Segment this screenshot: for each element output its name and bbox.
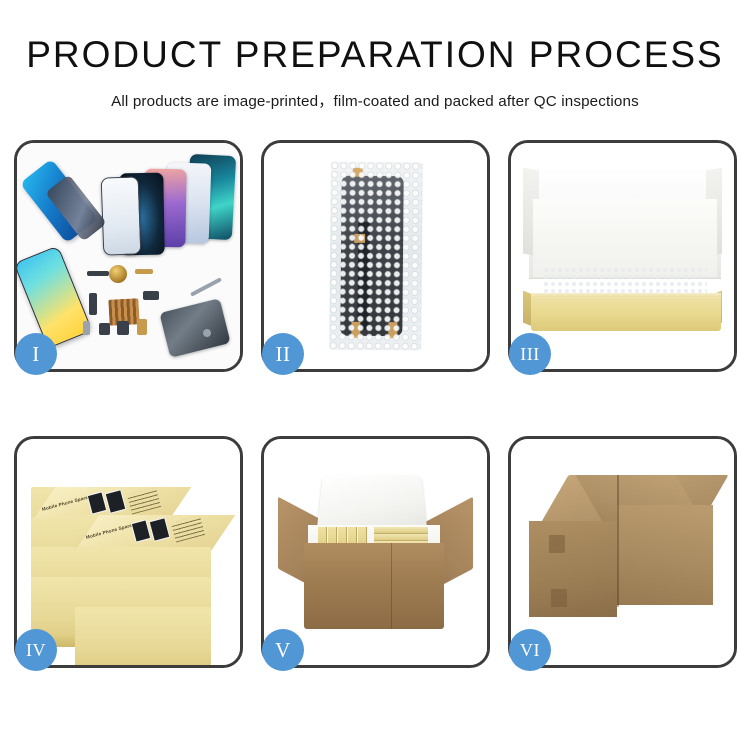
box-stack: Mobile Phone Spare Parts Mobile Phone Sp… [31,471,231,651]
carton-tape-lower [551,589,567,607]
process-step-panel-1[interactable]: I [14,140,243,372]
bubble-wrap-package [329,162,423,351]
part-module-1 [117,321,129,335]
part-flex-1 [89,293,97,315]
process-step-panel-6[interactable]: VI [508,436,737,668]
bubble-texture [329,162,423,351]
step-badge-2: II [262,333,304,375]
box-front-panel [531,297,721,331]
step-1-image [17,143,240,369]
page-header: PRODUCT PREPARATION PROCESS All products… [0,0,750,111]
step-badge-6: VI [509,629,551,671]
process-step-grid: I II [14,140,736,668]
stacked-box-front-4 [75,607,211,665]
step-5-image [264,439,487,665]
part-flex-2 [143,291,159,300]
speaker-component [109,265,127,283]
yellow-box-h-1 [374,527,428,534]
step-2-image [264,143,487,369]
carton-vertical-seam [617,475,619,607]
screen-protector-glass [101,176,142,255]
step-3-image [511,143,734,369]
foam-lid [317,475,428,530]
process-step-panel-2[interactable]: II [261,140,490,372]
foam-sheet [533,199,717,277]
carton-body [304,543,444,629]
part-button [83,321,90,335]
part-camera [99,323,110,335]
page-title: PRODUCT PREPARATION PROCESS [0,36,750,73]
step-4-image: Mobile Phone Spare Parts Mobile Phone Sp… [17,439,240,665]
carton-right-face [617,505,713,605]
step-6-image [511,439,734,665]
step-badge-1: I [15,333,57,375]
step-badge-3: III [509,333,551,375]
part-screw [203,329,211,337]
process-step-panel-5[interactable]: V [261,436,490,668]
part-strip-2 [135,269,153,274]
carton-left-face [529,521,617,617]
part-strip-1 [87,271,109,276]
part-module-2 [137,319,147,335]
page-subtitle: All products are image-printed，film-coat… [0,89,750,111]
process-step-panel-3[interactable]: III [508,140,737,372]
step-badge-4: IV [15,629,57,671]
carton-tape-upper [549,535,565,553]
process-step-panel-4[interactable]: Mobile Phone Spare Parts Mobile Phone Sp… [14,436,243,668]
yellow-box-h-2 [374,534,428,541]
step-badge-5: V [262,629,304,671]
